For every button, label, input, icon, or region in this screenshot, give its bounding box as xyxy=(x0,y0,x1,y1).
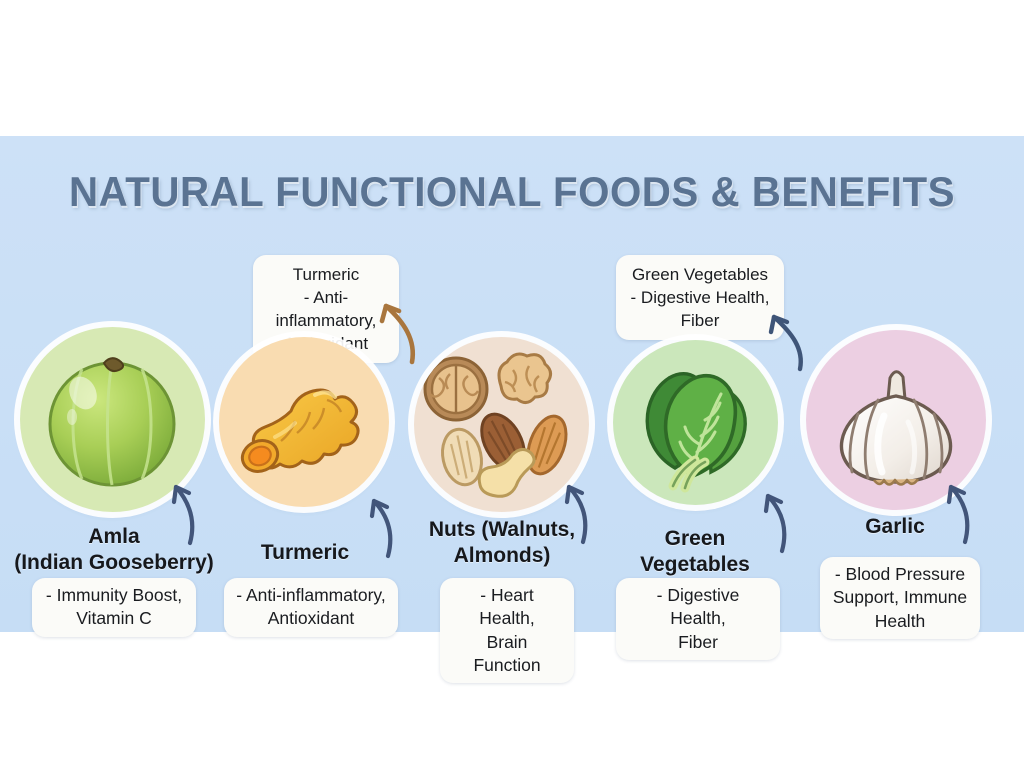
food-label-turmeric: Turmeric xyxy=(220,540,390,566)
benefit-chip-turmeric-line1: - Anti-inflammatory, xyxy=(235,584,387,607)
turmeric-root-icon xyxy=(219,337,389,507)
leafy-greens-icon xyxy=(613,340,778,505)
food-label-garlic-line1: Garlic xyxy=(806,514,984,540)
food-label-amla-line2: (Indian Gooseberry) xyxy=(0,550,228,576)
garlic-bulb-icon xyxy=(806,330,986,510)
benefit-chip-nuts: - Heart Health, Brain Function xyxy=(440,578,574,683)
food-label-amla: Amla (Indian Gooseberry) xyxy=(0,524,228,575)
benefit-chip-turmeric-line2: Antioxidant xyxy=(235,607,387,630)
food-circle-nuts[interactable] xyxy=(414,337,589,512)
benefit-chip-garlic-line3: Health xyxy=(831,610,969,633)
benefit-chip-turmeric: - Anti-inflammatory, Antioxidant xyxy=(224,578,398,637)
benefit-chip-amla-line1: - Immunity Boost, xyxy=(43,584,185,607)
benefit-chip-green-vegetables-line2: Fiber xyxy=(627,631,769,654)
food-circle-amla[interactable] xyxy=(20,327,205,512)
page-title: NATURAL FUNCTIONAL FOODS & BENEFITS xyxy=(20,168,1003,216)
food-label-green-vegetables: Green Vegetables xyxy=(612,526,778,577)
mixed-nuts-icon xyxy=(414,337,589,512)
green-vegetables-callout-line1: Green Vegetables xyxy=(629,263,771,286)
food-label-nuts-line1: Nuts (Walnuts, xyxy=(412,517,592,543)
green-vegetables-callout-line3: Fiber xyxy=(629,309,771,332)
benefit-chip-green-vegetables: - Digestive Health, Fiber xyxy=(616,578,780,660)
infographic-canvas: NATURAL FUNCTIONAL FOODS & BENEFITS Turm… xyxy=(0,0,1024,768)
food-circle-garlic[interactable] xyxy=(806,330,986,510)
food-circle-green-vegetables[interactable] xyxy=(613,340,778,505)
benefit-chip-garlic: - Blood Pressure Support, Immune Health xyxy=(820,557,980,639)
green-vegetables-callout-line2: - Digestive Health, xyxy=(629,286,771,309)
turmeric-callout-line1: Turmeric xyxy=(266,263,386,286)
benefit-chip-amla-line2: Vitamin C xyxy=(43,607,185,630)
benefit-chip-nuts-line1: - Heart Health, xyxy=(451,584,563,631)
benefit-chip-garlic-line1: - Blood Pressure xyxy=(831,563,969,586)
benefit-chip-garlic-line2: Support, Immune xyxy=(831,586,969,609)
food-label-nuts-line2: Almonds) xyxy=(412,543,592,569)
green-vegetables-callout-box: Green Vegetables - Digestive Health, Fib… xyxy=(616,255,784,340)
amla-gooseberry-icon xyxy=(20,327,205,512)
food-circle-turmeric[interactable] xyxy=(219,337,389,507)
turmeric-callout-line2: - Anti-inflammatory, xyxy=(266,286,386,332)
benefit-chip-amla: - Immunity Boost, Vitamin C xyxy=(32,578,196,637)
benefit-chip-green-vegetables-line1: - Digestive Health, xyxy=(627,584,769,631)
food-label-turmeric-line1: Turmeric xyxy=(220,540,390,566)
benefit-chip-nuts-line2: Brain Function xyxy=(451,631,563,678)
food-label-garlic: Garlic xyxy=(806,514,984,540)
food-label-amla-line1: Amla xyxy=(0,524,228,550)
food-label-green-vegetables-line2: Vegetables xyxy=(612,552,778,578)
food-label-green-vegetables-line1: Green xyxy=(612,526,778,552)
food-label-nuts: Nuts (Walnuts, Almonds) xyxy=(412,517,592,568)
